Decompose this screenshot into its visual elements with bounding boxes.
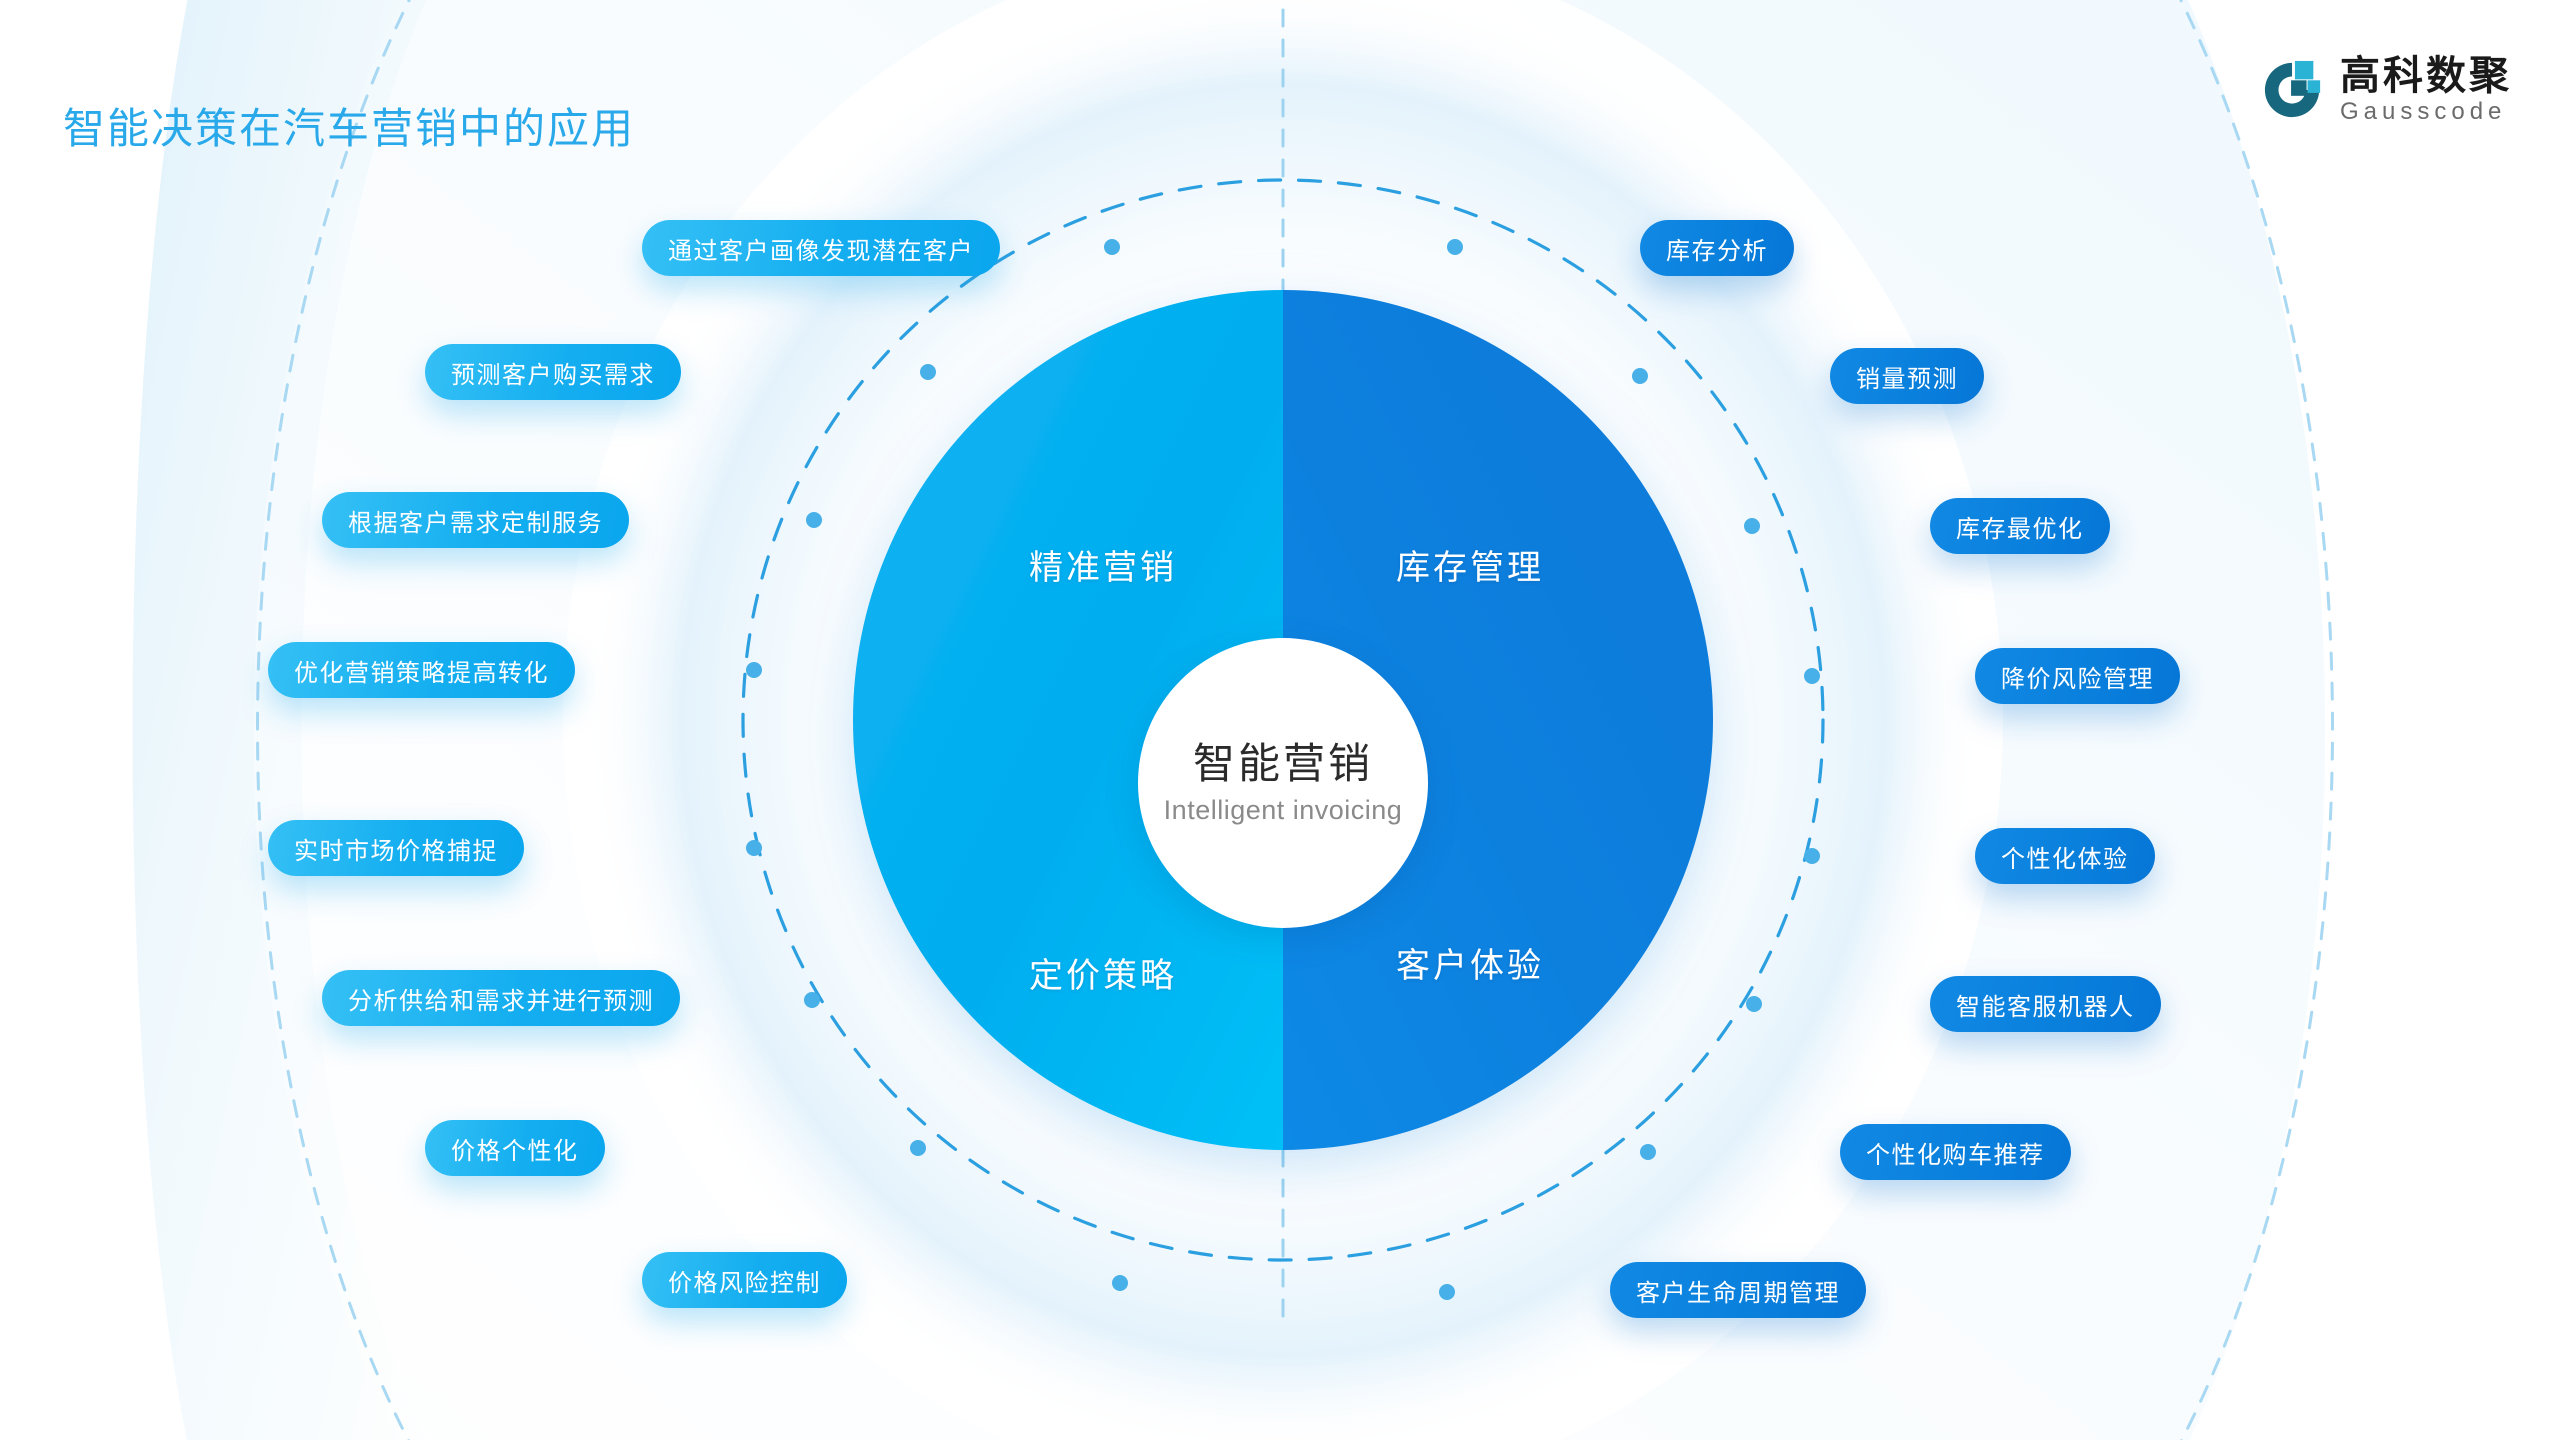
logo-name-en: Gausscode (2340, 98, 2512, 125)
quadrant-label-customer-experience: 客户体验 (1370, 946, 1570, 986)
quadrant-label-inventory-management: 库存管理 (1370, 548, 1570, 588)
logo-text-block: 高科数聚 Gausscode (2340, 54, 2512, 125)
infographic-canvas: 精准营销 库存管理 定价策略 客户体验 智能营销 Intelligent inv… (0, 0, 2560, 1440)
page-title: 智能决策在汽车营销中的应用 (63, 103, 635, 155)
gausscode-logo-icon (2262, 59, 2324, 121)
right-item-inventory-optimization[interactable]: 库存最优化 (1930, 498, 2110, 554)
left-item-purchase-demand-forecast[interactable]: 预测客户购买需求 (425, 344, 681, 400)
quadrant-label-pricing-strategy: 定价策略 (1003, 956, 1203, 996)
left-item-realtime-price-capture[interactable]: 实时市场价格捕捉 (268, 820, 524, 876)
left-item-customer-profiling[interactable]: 通过客户画像发现潜在客户 (642, 220, 1000, 276)
core-title-cn: 智能营销 (1193, 739, 1373, 789)
quadrant-label-precise-marketing: 精准营销 (1003, 548, 1203, 588)
right-item-customer-lifecycle-management[interactable]: 客户生命周期管理 (1610, 1262, 1866, 1318)
left-item-optimize-conversion[interactable]: 优化营销策略提高转化 (268, 642, 575, 698)
left-item-price-risk-control[interactable]: 价格风险控制 (642, 1252, 847, 1308)
right-item-price-drop-risk[interactable]: 降价风险管理 (1975, 648, 2180, 704)
center-core-circle: 智能营销 Intelligent invoicing (1138, 638, 1428, 928)
right-item-ai-customer-service-bot[interactable]: 智能客服机器人 (1930, 976, 2161, 1032)
right-item-sales-forecast[interactable]: 销量预测 (1830, 348, 1984, 404)
logo-name-cn: 高科数聚 (2340, 54, 2512, 98)
brand-logo: 高科数聚 Gausscode (2262, 54, 2512, 125)
right-item-personalized-experience[interactable]: 个性化体验 (1975, 828, 2155, 884)
left-item-custom-service[interactable]: 根据客户需求定制服务 (322, 492, 629, 548)
right-item-personalized-car-recommendation[interactable]: 个性化购车推荐 (1840, 1124, 2071, 1180)
left-item-supply-demand-forecast[interactable]: 分析供给和需求并进行预测 (322, 970, 680, 1026)
right-item-inventory-analysis[interactable]: 库存分析 (1640, 220, 1794, 276)
left-item-price-personalization[interactable]: 价格个性化 (425, 1120, 605, 1176)
core-title-en: Intelligent invoicing (1164, 793, 1403, 827)
